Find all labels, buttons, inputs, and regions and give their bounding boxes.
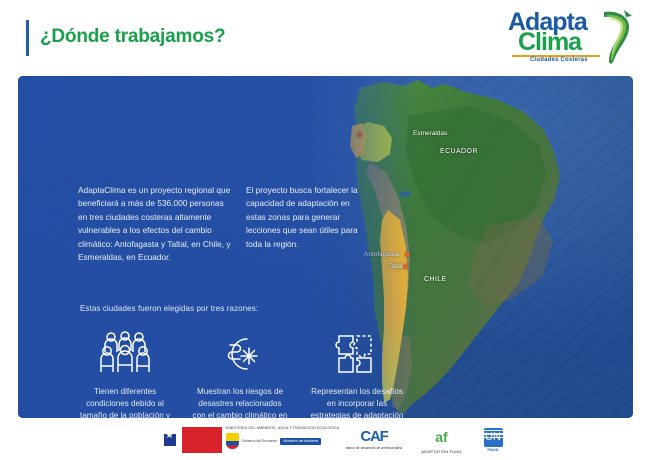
logo-subtitle: Ciudades Costeras xyxy=(530,57,588,63)
main-panel: Esmeraldas ECUADOR Antofagasta Taltal CH… xyxy=(18,76,633,418)
footer-logo-strip: MINISTERIO DEL AMBIENTE, AGUA Y TRANSICI… xyxy=(160,422,510,458)
adaptation-fund-label: ADAPTATION FUND xyxy=(411,449,473,454)
footer: MINISTERIO DEL AMBIENTE, AGUA Y TRANSICI… xyxy=(18,422,633,458)
logo-word-clima: Clima xyxy=(518,30,581,55)
south-america-leaf-icon xyxy=(596,8,636,66)
title-accent-bar xyxy=(26,20,29,56)
caf-wordmark: CAF xyxy=(341,429,407,444)
map-label-chile: CHILE xyxy=(424,276,447,283)
reason-icon-wrap-2 xyxy=(181,328,299,380)
reason-caption-1: Tienen diferentes condiciones debido al … xyxy=(66,386,184,418)
chile-star-icon xyxy=(164,434,176,446)
group-of-people-icon xyxy=(100,331,150,377)
ecuador-shield-icon xyxy=(226,433,239,449)
ecuador-side-text: Gobierno del Encuentro xyxy=(242,439,278,443)
map-label-ecuador: ECUADOR xyxy=(440,148,478,155)
climate-weather-icon xyxy=(217,332,263,376)
reasons-intro-text: Estas ciudades fueron elegidas por tres … xyxy=(80,304,258,313)
adaptation-fund-mark: af xyxy=(432,427,452,447)
intro-paragraph-2: El proyecto busca fortalecer la capacida… xyxy=(246,184,364,251)
gobierno-de-ecuador-logo: MINISTERIO DEL AMBIENTE, AGUA Y TRANSICI… xyxy=(226,426,338,454)
reason-caption-2: Muestran los riesgos de desastres relaci… xyxy=(181,386,299,418)
caf-tagline: banco de desarrollo de américa latina xyxy=(341,446,407,450)
header: ¿Dónde trabajamos? Adapta Clima Ciudades… xyxy=(0,0,650,76)
gobierno-de-chile-logo xyxy=(160,427,222,453)
map-label-esmeraldas: Esmeraldas xyxy=(413,130,447,137)
reason-item-population: Tienen diferentes condiciones debido al … xyxy=(66,328,184,418)
adaptation-fund-logo: af ADAPTATION FUND xyxy=(411,427,473,454)
ecuador-ministry-badge: Ministerio del Ambiente xyxy=(280,438,321,445)
reason-item-adaptation-challenges: Representan los desafíos en incorporar l… xyxy=(298,328,416,418)
caf-logo: CAF banco de desarrollo de américa latin… xyxy=(341,429,407,450)
reason-icon-wrap-3 xyxy=(298,328,416,380)
pnud-label: PNUD xyxy=(476,448,510,452)
adaptaclima-logo: Adapta Clima Ciudades Costeras xyxy=(500,6,640,68)
reason-icon-wrap-1 xyxy=(66,328,184,380)
reason-item-climate-risk: Muestran los riesgos de desastres relaci… xyxy=(181,328,299,418)
page-title: ¿Dónde trabajamos? xyxy=(40,26,225,48)
reasons-group: Tienen diferentes condiciones debido al … xyxy=(66,328,416,418)
intro-paragraph-1: AdaptaClima es un proyecto regional que … xyxy=(78,184,233,265)
chile-wordmark-lines xyxy=(477,426,507,440)
ecuador-ministry-line: MINISTERIO DEL AMBIENTE, AGUA Y TRANSICI… xyxy=(226,426,338,430)
puzzle-pieces-icon xyxy=(335,332,379,376)
reason-caption-3: Representan los desafíos en incorporar l… xyxy=(298,386,416,418)
slide-root: ¿Dónde trabajamos? Adapta Clima Ciudades… xyxy=(0,0,650,460)
